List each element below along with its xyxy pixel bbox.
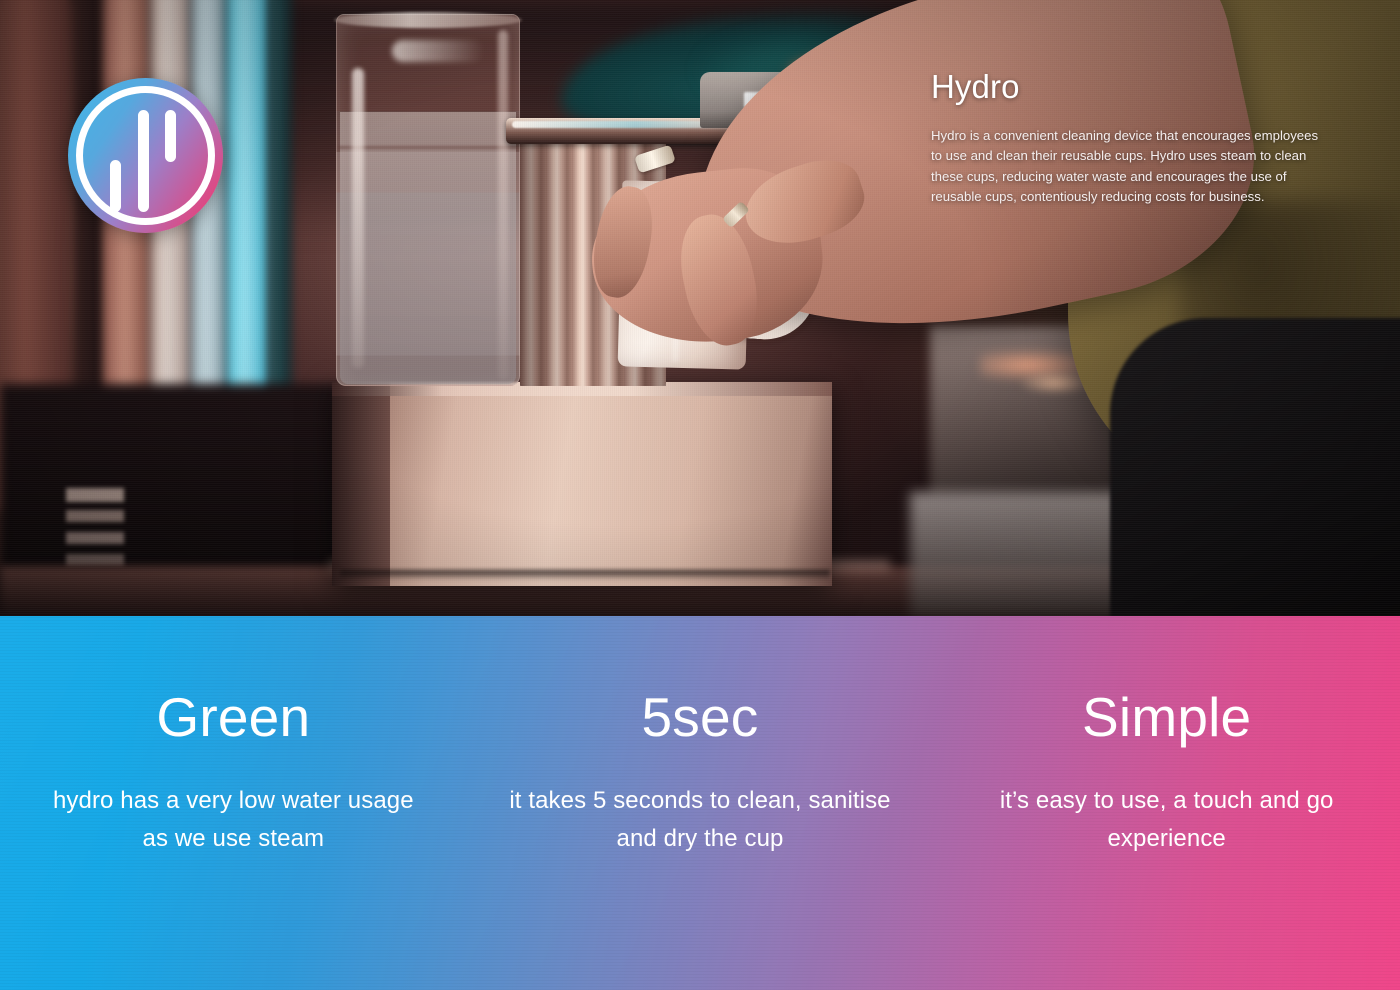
product-photo: Hydro Hydro is a convenient cleaning dev… [0,0,1400,616]
logo-bar-left-icon [110,160,121,212]
reservoir-water-level [340,112,516,384]
feature-column-green: Green hydro has a very low water usage a… [0,616,467,990]
machine-base [332,382,832,586]
hydro-logo[interactable] [68,78,223,233]
feature-subtext: hydro has a very low water usage as we u… [38,782,428,858]
person-dark-trousers [1110,318,1400,616]
reservoir-highlight-right [498,30,508,380]
logo-bar-middle-icon [138,110,149,212]
product-slide: Hydro Hydro is a convenient cleaning dev… [0,0,1400,990]
feature-heading: 5sec [642,688,759,746]
feature-heading: Simple [1082,688,1251,746]
machine-base-side [332,382,390,586]
reservoir-highlight-left [352,68,364,368]
feature-subtext: it takes 5 seconds to clean, sanitise an… [505,782,895,858]
reservoir-water-line [338,146,518,149]
reservoir-highlight-top [392,40,484,62]
feature-subtext: it’s easy to use, a touch and go experie… [972,782,1362,858]
feature-columns: Green hydro has a very low water usage a… [0,616,1400,990]
page-title: Hydro [931,68,1020,106]
feature-panel: Green hydro has a very low water usage a… [0,616,1400,990]
feature-column-simple: Simple it’s easy to use, a touch and go … [933,616,1400,990]
reservoir-rim [334,12,522,28]
feature-column-5sec: 5sec it takes 5 seconds to clean, saniti… [467,616,934,990]
product-description: Hydro is a convenient cleaning device th… [931,126,1323,208]
feature-heading: Green [156,688,310,746]
machine-base-shadow [340,570,830,580]
logo-bar-right-icon [165,110,176,162]
